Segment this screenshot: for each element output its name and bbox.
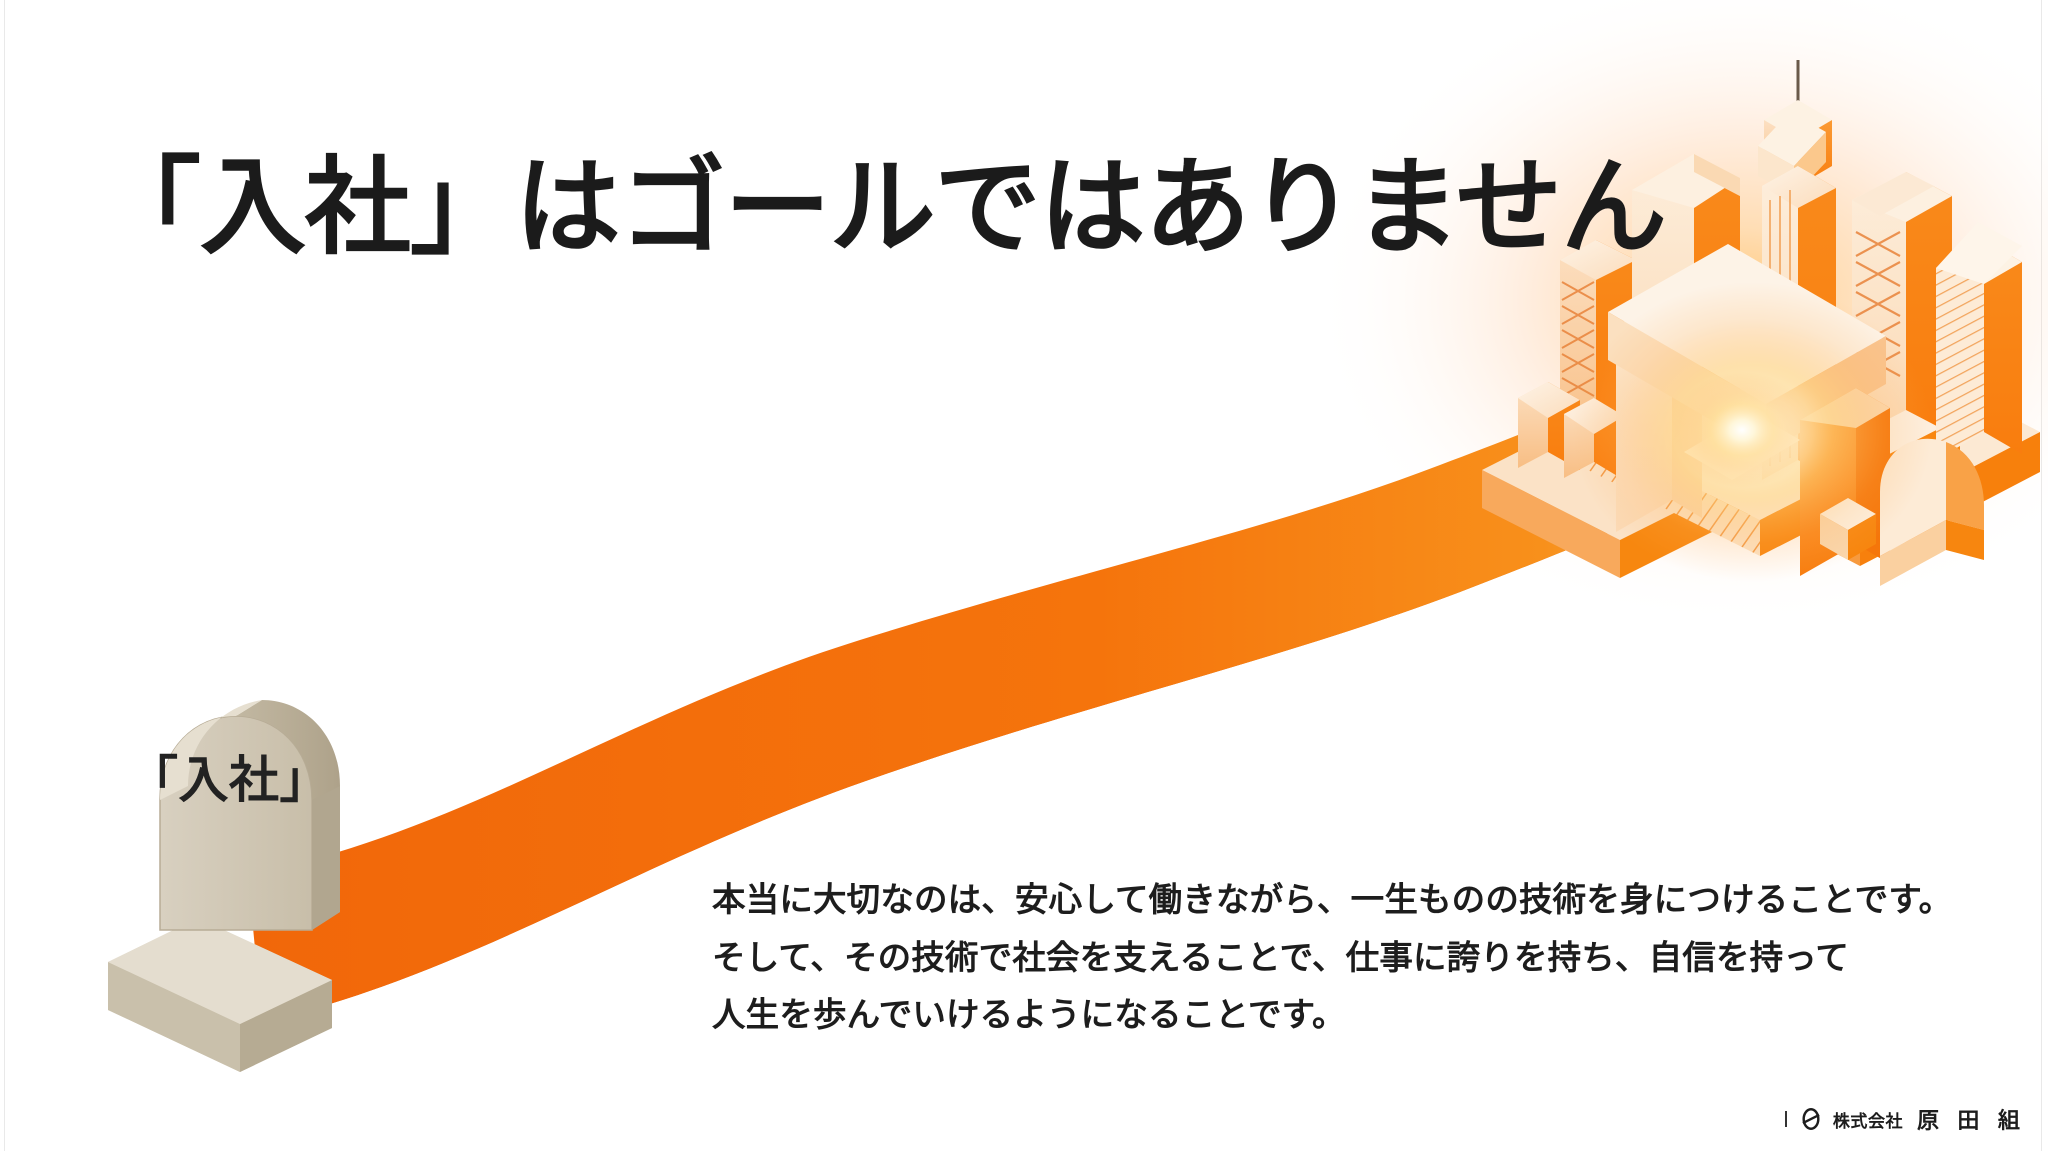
logo-tick-mark (1785, 1111, 1787, 1127)
company-logo: 株式会社 原 田 組 (1785, 1103, 2026, 1135)
isometric-city (1482, 60, 2040, 586)
body-paragraph: 本当に大切なのは、安心して働きながら、一生ものの技術を身につけることです。 そし… (712, 872, 2012, 1045)
entry-marker-label: 「入社」 (128, 740, 330, 812)
body-line-3: 人生を歩んでいけるようになることです。 (712, 987, 2012, 1045)
logo-company-name: 原 田 組 (1917, 1103, 2026, 1135)
harada-gumi-logo-mark (1798, 1106, 1824, 1132)
body-line-1: 本当に大切なのは、安心して働きながら、一生ものの技術を身につけることです。 (712, 872, 2012, 930)
slide-right-edge-line (2041, 0, 2042, 1151)
body-line-2: そして、その技術で社会を支えることで、仕事に誇りを持ち、自信を持って (712, 930, 2012, 988)
page-title: 「入社」はゴールではありません (95, 153, 1666, 264)
city-glow-halo (1310, 0, 2048, 630)
slide-canvas: 「入社」はゴールではありません 「入社」 本当に大切なのは、安心して働きながら、… (0, 0, 2048, 1151)
logo-corp-prefix: 株式会社 (1833, 1107, 1903, 1132)
slide-left-edge-line (4, 0, 5, 1151)
